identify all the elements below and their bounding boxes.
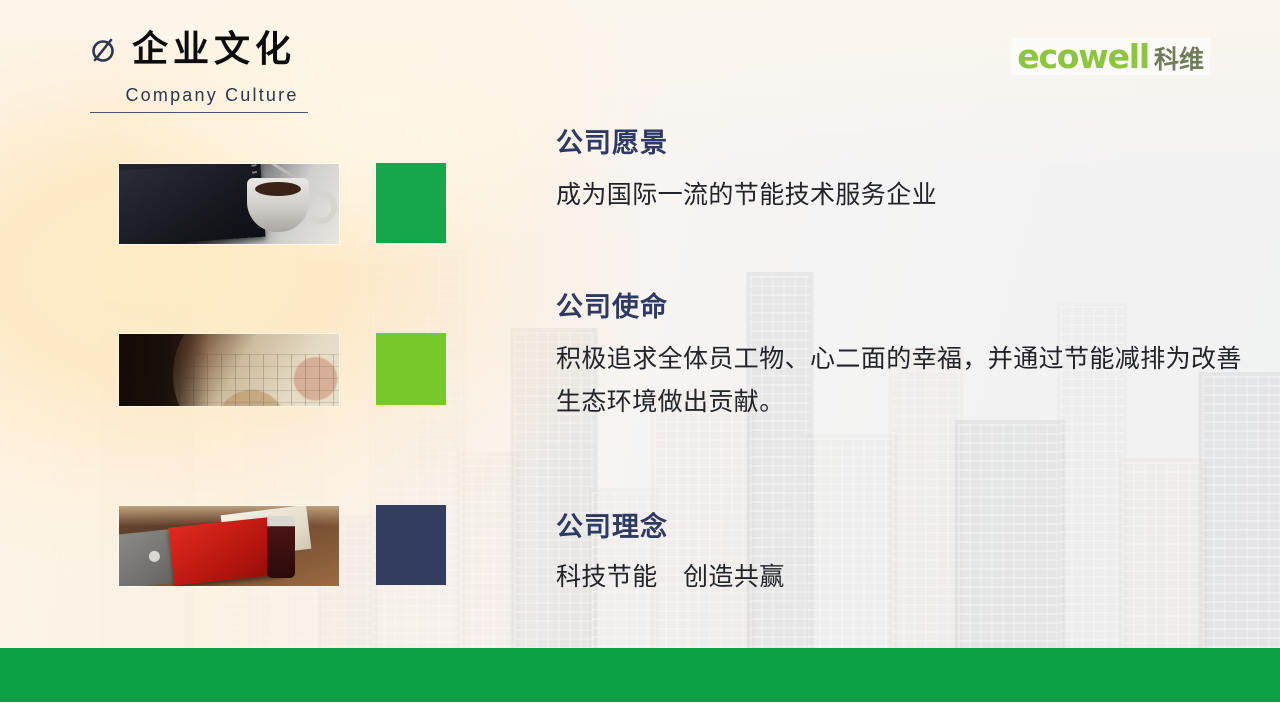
brand-name-cn: 科维	[1154, 47, 1204, 72]
philosophy-title: 公司理念	[556, 512, 1256, 544]
title-underline	[90, 112, 308, 113]
navy-swatch	[376, 505, 446, 585]
notebook-coffee-photo	[118, 163, 340, 245]
globe-map-photo	[118, 333, 340, 407]
media-row-2	[118, 333, 446, 407]
brand-logo: ecowell 科维	[1011, 38, 1210, 75]
page-title: 企业文化	[132, 32, 296, 68]
header-title-row: 企业文化	[88, 24, 318, 76]
footer-green-bar	[0, 648, 1280, 702]
vision-block: 公司愿景 成为国际一流的节能技术服务企业	[556, 128, 1256, 216]
vision-body: 成为国际一流的节能技术服务企业	[556, 173, 1256, 216]
page-subtitle: Company Culture	[88, 85, 318, 106]
desk-laptop-notebook-photo	[118, 505, 340, 587]
mission-block: 公司使命 积极追求全体员工物、心二面的幸福，并通过节能减排为改善生态环境做出贡献…	[556, 292, 1256, 423]
lime-swatch	[376, 333, 446, 405]
brand-name-en: ecowell	[1017, 40, 1149, 73]
mission-title: 公司使命	[556, 292, 1256, 324]
footer-white-strip	[0, 702, 1280, 720]
mission-body: 积极追求全体员工物、心二面的幸福，并通过节能减排为改善生态环境做出贡献。	[556, 337, 1256, 423]
philosophy-body: 科技节能 创造共赢	[556, 555, 1256, 598]
media-row-1	[118, 163, 446, 245]
slide: 企业文化 Company Culture ecowell 科维	[0, 0, 1280, 720]
slashed-circle-icon	[88, 35, 118, 65]
vision-title: 公司愿景	[556, 128, 1256, 160]
green-swatch	[376, 163, 446, 243]
media-row-3	[118, 505, 446, 587]
philosophy-block: 公司理念 科技节能 创造共赢	[556, 512, 1256, 598]
page-header: 企业文化 Company Culture	[88, 24, 318, 113]
